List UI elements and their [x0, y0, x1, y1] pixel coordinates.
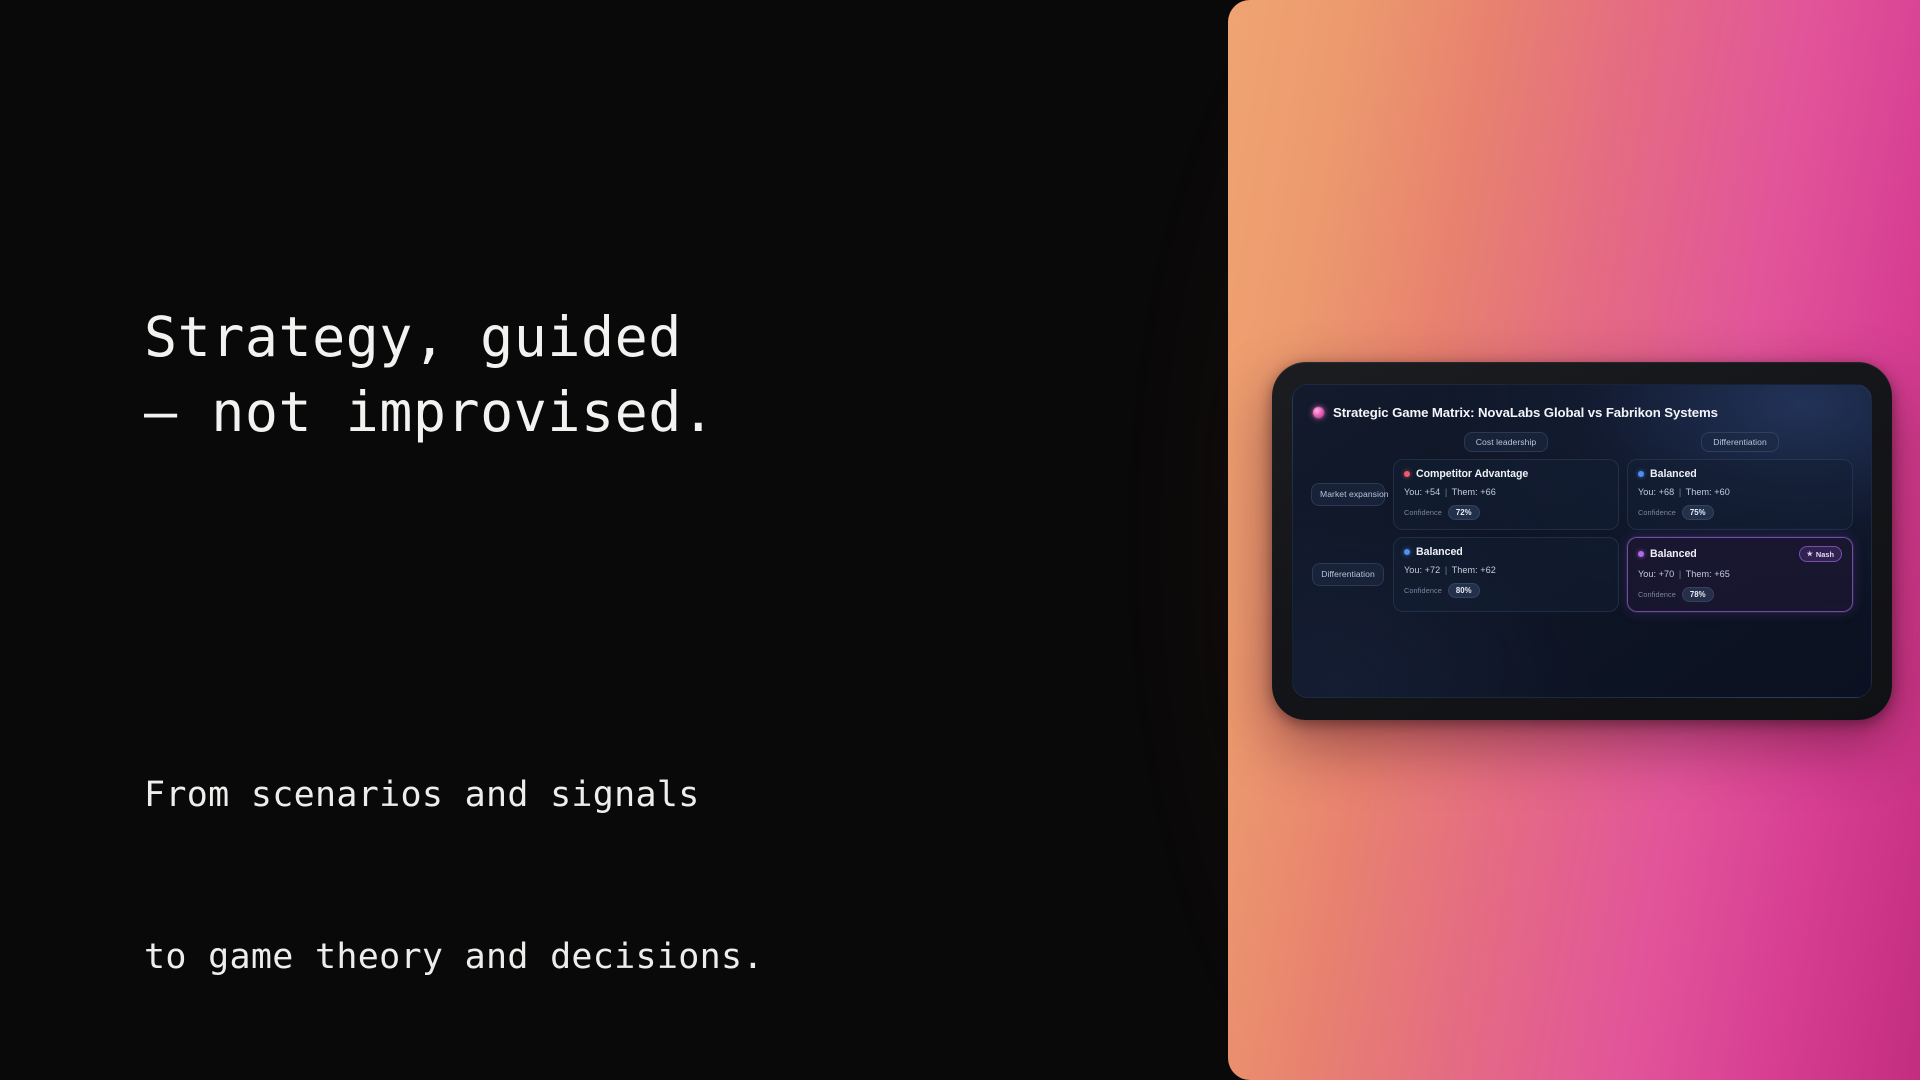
outcome-dot-icon: [1404, 471, 1410, 477]
payoff-you: You: +54: [1404, 487, 1440, 497]
cell-confidence: Confidence 75%: [1638, 505, 1842, 520]
matrix-row-header-1: Differentiation: [1311, 537, 1385, 612]
payoff-divider: |: [1445, 487, 1447, 497]
cell-header: Competitor Advantage: [1404, 468, 1608, 480]
cell-payoff: You: +54 | Them: +66: [1404, 487, 1608, 497]
confidence-value: 75%: [1682, 505, 1714, 520]
payoff-you: You: +72: [1404, 565, 1440, 575]
matrix-cell[interactable]: Balanced You: +72 | Them: +62 Confidence…: [1393, 537, 1619, 612]
confidence-label: Confidence: [1638, 508, 1676, 517]
payoff-them: Them: +65: [1686, 569, 1730, 579]
payoff-them: Them: +62: [1452, 565, 1496, 575]
matrix-column-header-0: Cost leadership: [1393, 432, 1619, 452]
confidence-value: 80%: [1448, 583, 1480, 598]
confidence-label: Confidence: [1638, 590, 1676, 599]
outcome-dot-icon: [1638, 551, 1644, 557]
cell-confidence: Confidence 80%: [1404, 583, 1608, 598]
matrix-cell[interactable]: Competitor Advantage You: +54 | Them: +6…: [1393, 459, 1619, 530]
column-header-label[interactable]: Differentiation: [1701, 432, 1779, 452]
cell-outcome: Balanced: [1638, 548, 1697, 560]
payoff-you: You: +68: [1638, 487, 1674, 497]
outcome-dot-icon: [1404, 549, 1410, 555]
matrix-column-header-1: Differentiation: [1627, 432, 1853, 452]
matrix-cell-nash-equilibrium[interactable]: Balanced ★ Nash You: +70 | Them: +65 Con…: [1627, 537, 1853, 612]
cell-outcome-label: Balanced: [1416, 546, 1463, 558]
cell-header: Balanced: [1404, 546, 1608, 558]
hero-copy-block: Strategy, guided — not improvised.: [144, 300, 1004, 450]
matrix-row-header-0: Market expansion: [1311, 459, 1385, 530]
payoff-divider: |: [1679, 569, 1681, 579]
hero-subcopy-block: From scenarios and signals to game theor…: [144, 660, 1044, 1080]
payoff-them: Them: +60: [1686, 487, 1730, 497]
cell-confidence: Confidence 78%: [1638, 587, 1842, 602]
nash-badge[interactable]: ★ Nash: [1799, 546, 1842, 562]
payoff-divider: |: [1679, 487, 1681, 497]
confidence-label: Confidence: [1404, 586, 1442, 595]
matrix-corner-spacer: [1311, 432, 1385, 452]
app-title: Strategic Game Matrix: NovaLabs Global v…: [1333, 405, 1718, 420]
cell-payoff: You: +68 | Them: +60: [1638, 487, 1842, 497]
payoff-divider: |: [1445, 565, 1447, 575]
star-icon: ★: [1807, 551, 1813, 558]
outcome-dot-icon: [1638, 471, 1644, 477]
cell-header: Balanced ★ Nash: [1638, 546, 1842, 562]
cell-outcome: Competitor Advantage: [1404, 468, 1528, 480]
app-header: Strategic Game Matrix: NovaLabs Global v…: [1313, 405, 1853, 420]
hero-headline-line-2: — not improvised.: [144, 375, 1004, 450]
matrix-cell[interactable]: Balanced You: +68 | Them: +60 Confidence…: [1627, 459, 1853, 530]
cell-outcome: Balanced: [1638, 468, 1697, 480]
slide-canvas: Strategy, guided — not improvised. From …: [0, 0, 1920, 1080]
status-dot-icon: [1313, 407, 1324, 418]
cell-outcome-label: Balanced: [1650, 548, 1697, 560]
row-header-label[interactable]: Market expansion: [1311, 483, 1385, 506]
hero-headline-line-1: Strategy, guided: [144, 300, 1004, 375]
hero-subcopy-line-2: to game theory and decisions.: [144, 930, 1044, 984]
row-header-label[interactable]: Differentiation: [1312, 563, 1384, 586]
payoff-them: Them: +66: [1452, 487, 1496, 497]
cell-payoff: You: +70 | Them: +65: [1638, 569, 1842, 579]
cell-payoff: You: +72 | Them: +62: [1404, 565, 1608, 575]
device-screen: Strategic Game Matrix: NovaLabs Global v…: [1292, 384, 1872, 698]
game-matrix: Cost leadership Differentiation Market e…: [1311, 432, 1853, 612]
cell-outcome: Balanced: [1404, 546, 1463, 558]
tablet-device-frame: Strategic Game Matrix: NovaLabs Global v…: [1272, 362, 1892, 720]
cell-outcome-label: Balanced: [1650, 468, 1697, 480]
confidence-label: Confidence: [1404, 508, 1442, 517]
confidence-value: 78%: [1682, 587, 1714, 602]
cell-outcome-label: Competitor Advantage: [1416, 468, 1528, 480]
nash-badge-label: Nash: [1816, 550, 1834, 559]
column-header-label[interactable]: Cost leadership: [1464, 432, 1548, 452]
confidence-value: 72%: [1448, 505, 1480, 520]
payoff-you: You: +70: [1638, 569, 1674, 579]
cell-confidence: Confidence 72%: [1404, 505, 1608, 520]
hero-subcopy-line-1: From scenarios and signals: [144, 768, 1044, 822]
cell-header: Balanced: [1638, 468, 1842, 480]
